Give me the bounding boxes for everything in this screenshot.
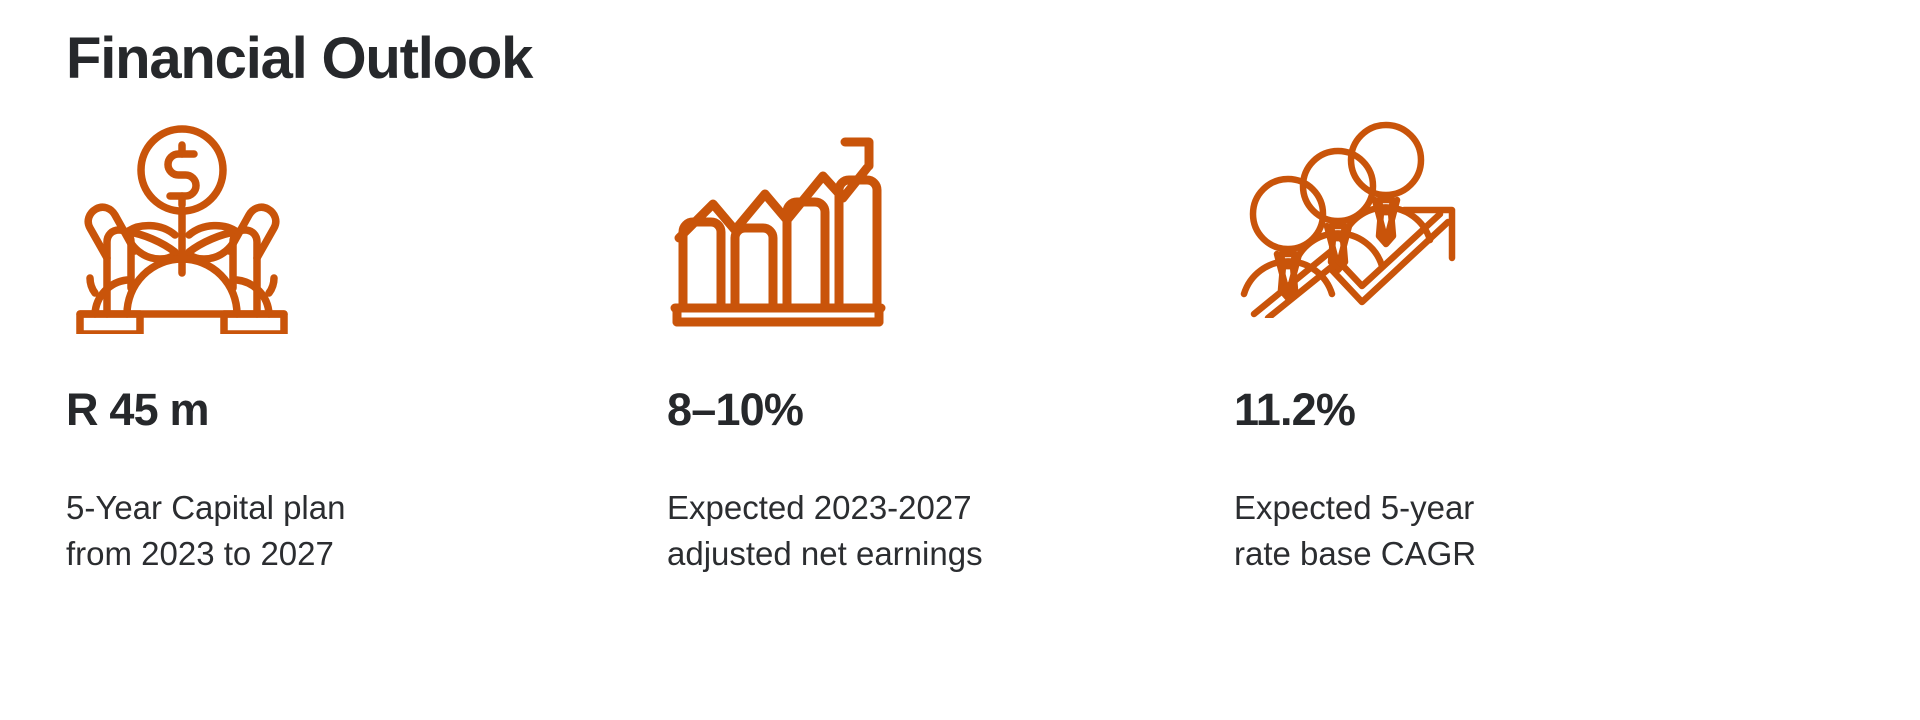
stat-value: R 45 m: [66, 386, 209, 433]
stat-description-line-1: Expected 5-year: [1234, 485, 1476, 531]
bar-chart-growth-arrow-icon: [667, 118, 897, 348]
stat-description: Expected 5-year rate base CAGR: [1234, 485, 1476, 576]
stat-value: 8–10%: [667, 386, 803, 433]
stat-description: 5-Year Capital plan from 2023 to 2027: [66, 485, 345, 576]
page-title: Financial Outlook: [66, 27, 532, 91]
stat-description-line-2: adjusted net earnings: [667, 531, 983, 577]
stat-description-line-1: 5-Year Capital plan: [66, 485, 345, 531]
stat-description-line-2: from 2023 to 2027: [66, 531, 345, 577]
people-growth-arrow-icon: [1234, 118, 1484, 348]
stat-value: 11.2%: [1234, 386, 1355, 433]
hands-money-plant-icon: [66, 118, 298, 348]
stat-card-net-earnings: 8–10% Expected 2023-2027 adjusted net ea…: [603, 118, 1206, 576]
stats-columns: R 45 m 5-Year Capital plan from 2023 to …: [0, 118, 1920, 576]
stat-description: Expected 2023-2027 adjusted net earnings: [667, 485, 983, 576]
stat-card-capital-plan: R 45 m 5-Year Capital plan from 2023 to …: [0, 118, 603, 576]
financial-outlook-slide: Financial Outlook: [0, 0, 1920, 720]
stat-description-line-1: Expected 2023-2027: [667, 485, 983, 531]
stat-description-line-2: rate base CAGR: [1234, 531, 1476, 577]
stat-card-rate-base-cagr: 11.2% Expected 5-year rate base CAGR: [1206, 118, 1809, 576]
